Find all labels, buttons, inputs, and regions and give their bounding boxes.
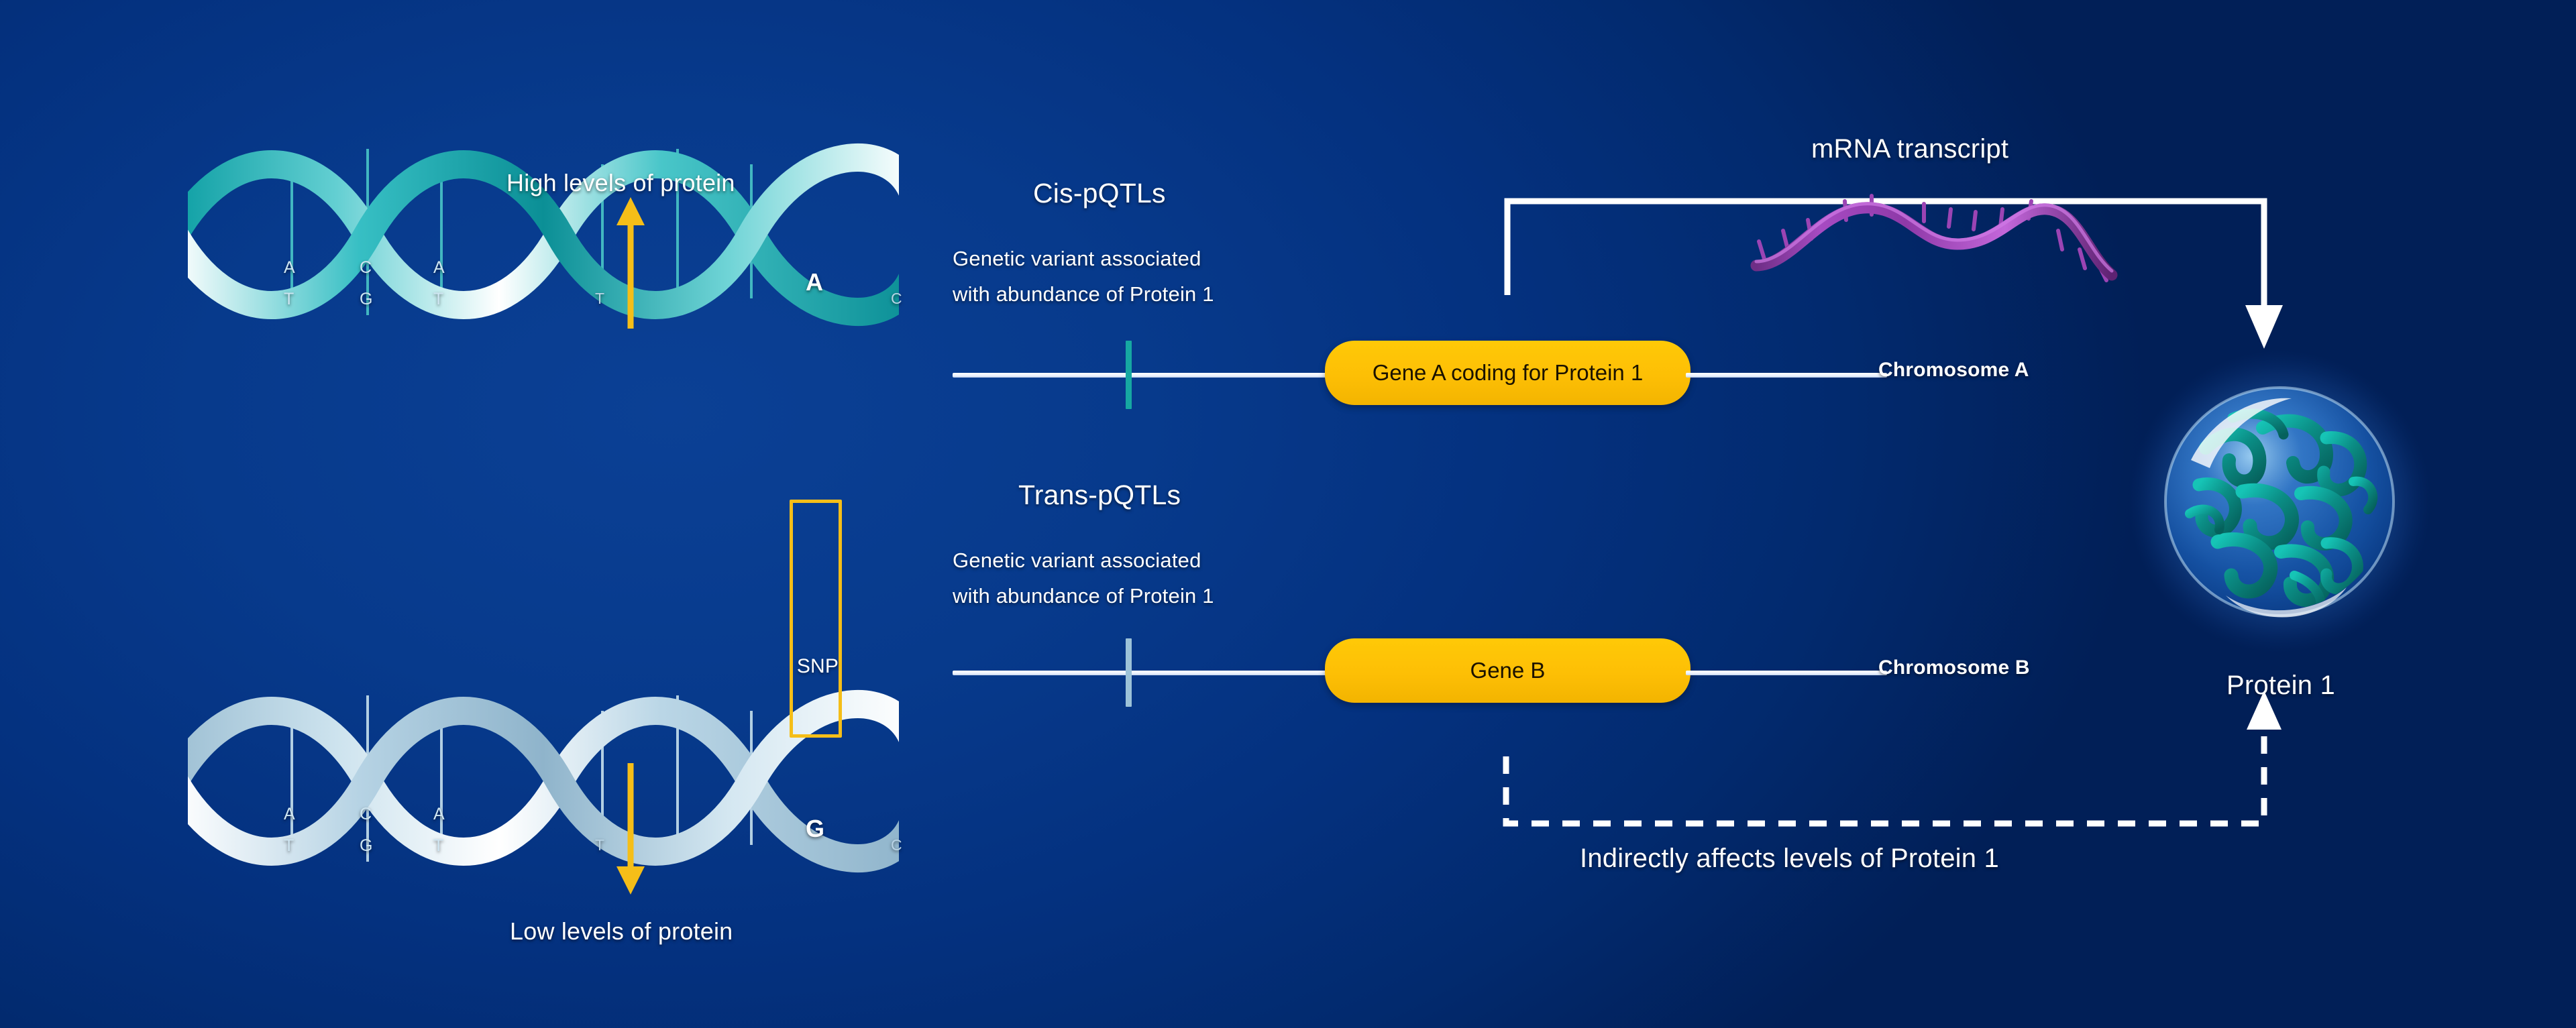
chromosome-b-label: Chromosome B	[1878, 656, 2030, 679]
indirect-effect-label: Indirectly affects levels of Protein 1	[1580, 844, 1999, 874]
gene-b-label: Gene B	[1470, 658, 1546, 683]
base-letter-flank-left: T	[595, 290, 604, 308]
base-letter: A	[433, 258, 445, 278]
base-letter-variant-top: A	[806, 268, 823, 296]
base-letter-flank-left: T	[595, 836, 604, 854]
base-letter: G	[360, 290, 373, 309]
diagram-canvas: A T C G A T T A C	[0, 0, 2576, 1028]
gene-a-label: Gene A coding for Protein 1	[1373, 360, 1644, 386]
base-letter: T	[284, 836, 294, 856]
chromosome-b-line-left	[953, 671, 1330, 675]
low-levels-label: Low levels of protein	[510, 917, 733, 946]
trans-pqtl-title: Trans-pQTLs	[1018, 479, 1181, 511]
gene-b-box[interactable]: Gene B	[1325, 638, 1690, 703]
chromosome-a-line-left	[953, 373, 1330, 378]
base-letter: T	[433, 836, 443, 856]
trans-pqtl-description-line2: with abundance of Protein 1	[953, 582, 1214, 611]
trans-pqtl-description-line1: Genetic variant associated	[953, 547, 1201, 575]
base-letter-variant-bottom: G	[806, 815, 824, 843]
base-letter-flank-right: C	[891, 836, 902, 854]
protein-label: Protein 1	[2133, 671, 2428, 701]
cis-variant-tick	[1126, 341, 1132, 409]
chromosome-a-label: Chromosome A	[1878, 359, 2029, 382]
mrna-strand-icon	[1744, 180, 2160, 300]
base-letter: A	[284, 258, 295, 278]
base-letter: A	[284, 805, 295, 824]
cis-pqtl-description-line1: Genetic variant associated	[953, 245, 1201, 274]
cis-pqtl-title: Cis-pQTLs	[1033, 178, 1166, 209]
high-levels-label: High levels of protein	[506, 169, 735, 197]
snp-label: SNP	[781, 655, 855, 678]
base-letter: C	[360, 805, 372, 824]
chromosome-b-line-right	[1686, 671, 1887, 675]
base-letter: A	[433, 805, 445, 824]
snp-highlight-box	[790, 500, 842, 738]
chromosome-a-line-right	[1686, 373, 1887, 378]
base-letter-flank-right: C	[891, 290, 902, 308]
base-letter: T	[433, 290, 443, 309]
base-letter: G	[360, 836, 373, 856]
dna-helix-icon-top	[188, 134, 899, 362]
dna-panel: A T C G A T T A C	[188, 148, 899, 939]
protein-globule-icon	[2125, 347, 2434, 656]
base-letter: T	[284, 290, 294, 309]
trans-variant-tick	[1126, 638, 1132, 707]
gene-a-box[interactable]: Gene A coding for Protein 1	[1325, 341, 1690, 405]
base-letter: C	[360, 258, 372, 278]
cis-pqtl-description-line2: with abundance of Protein 1	[953, 280, 1214, 309]
mrna-transcript-label: mRNA transcript	[1811, 134, 2008, 164]
